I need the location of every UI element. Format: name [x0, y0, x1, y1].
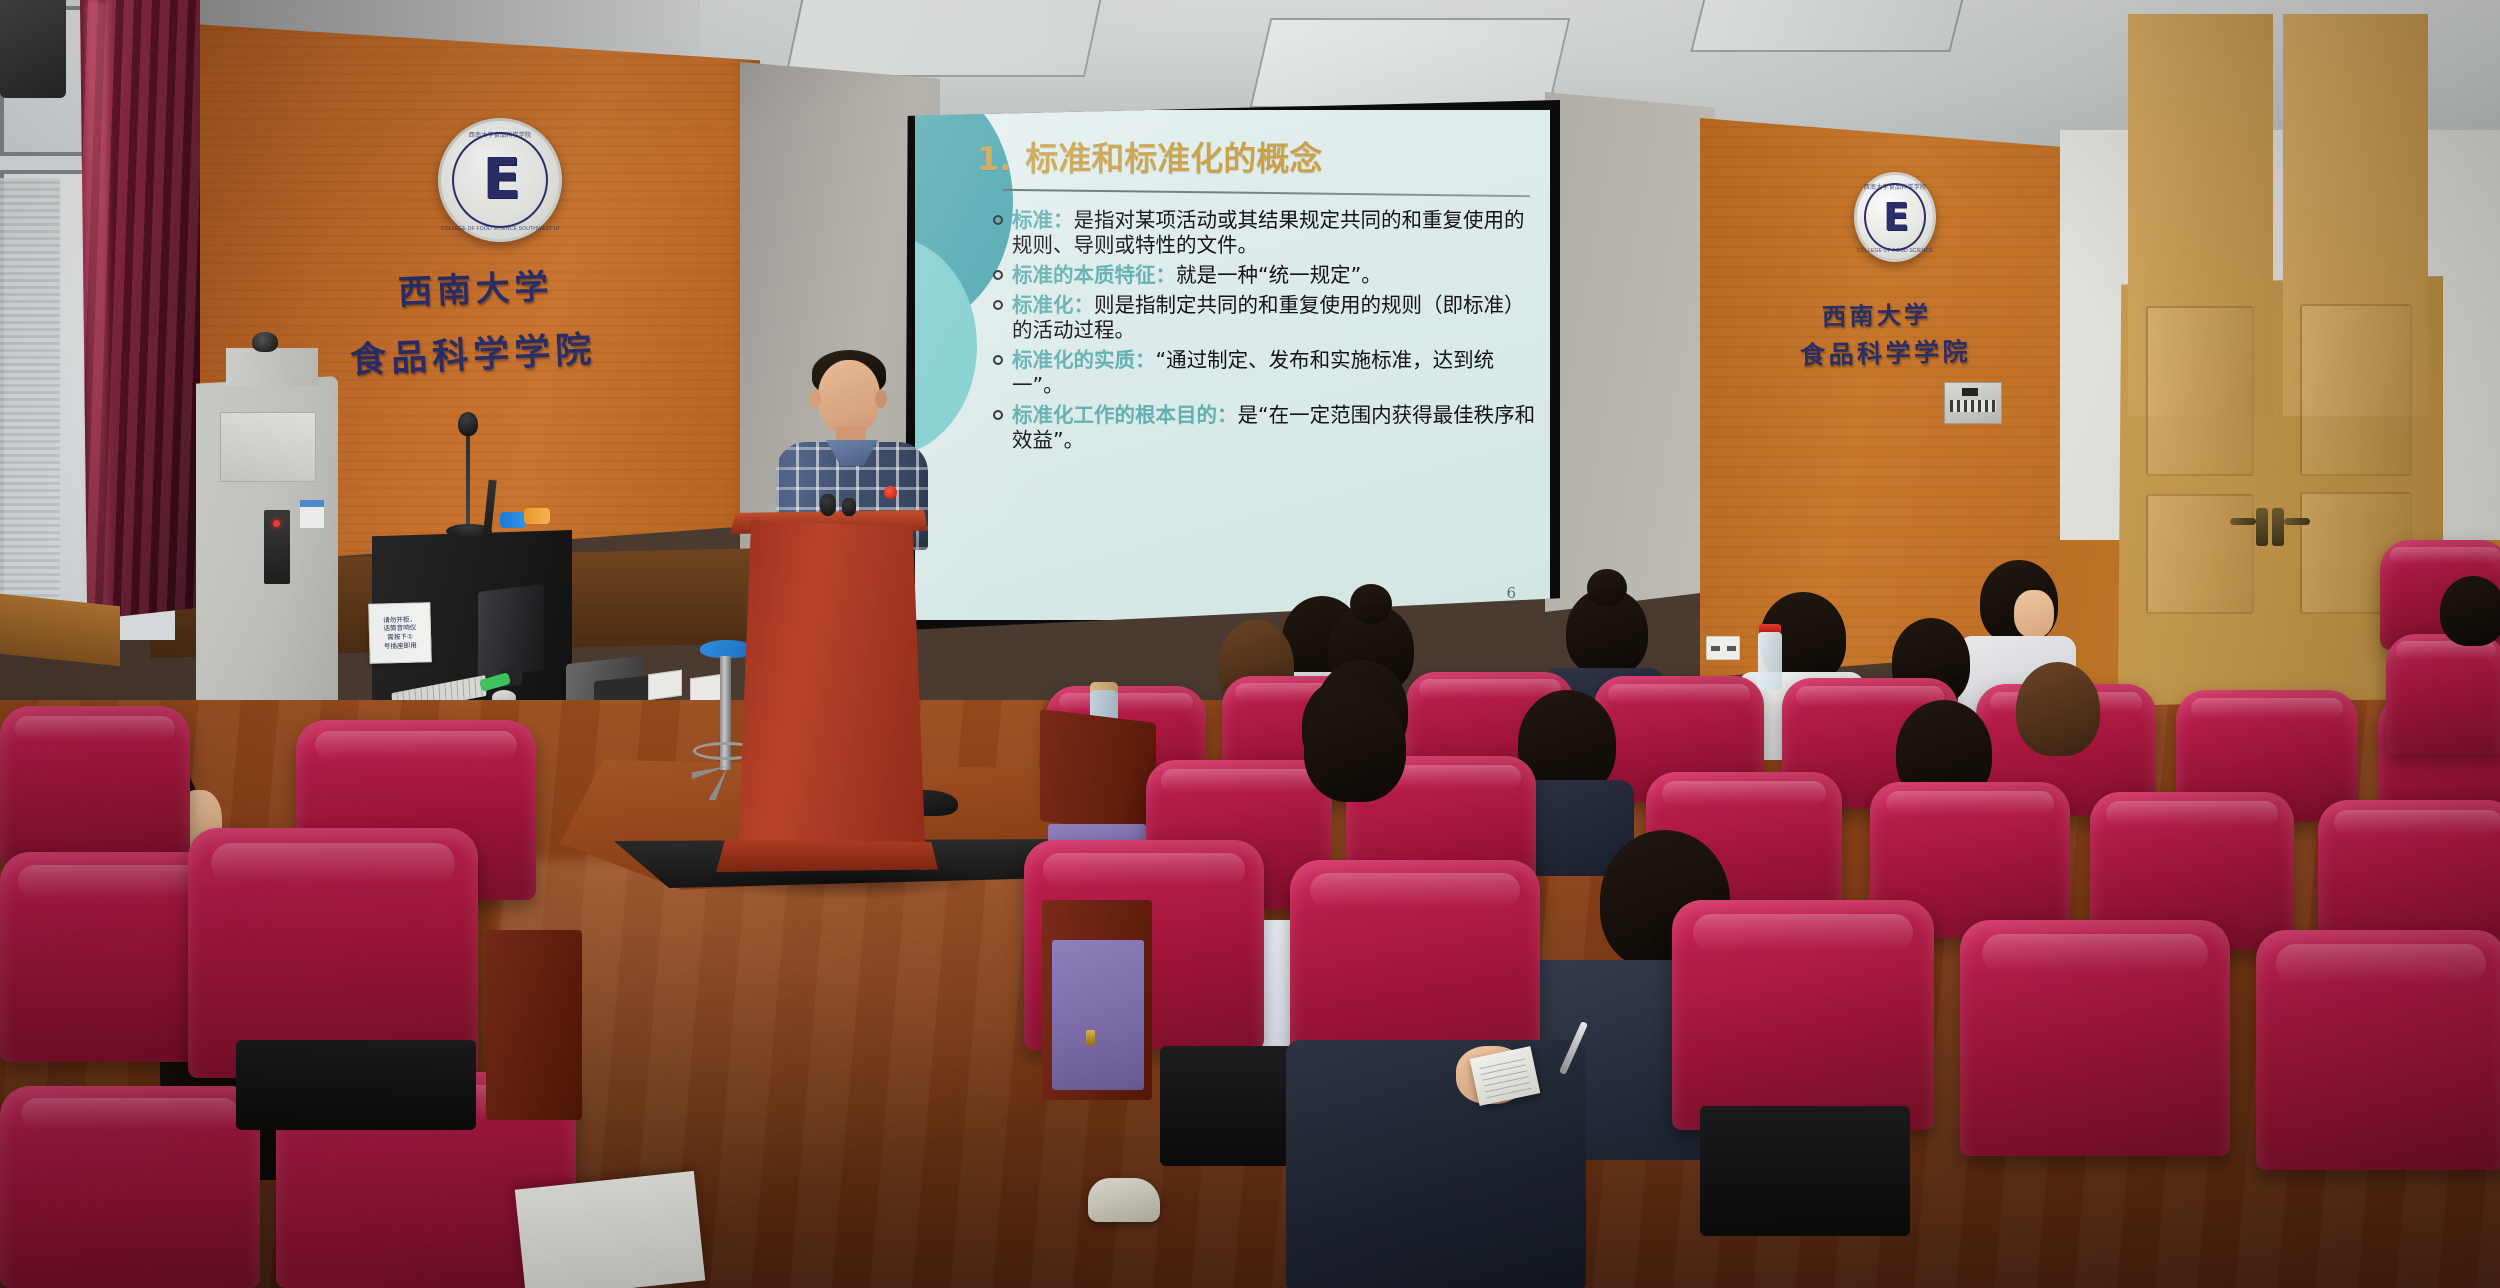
- bullet-circle-icon: [993, 215, 1003, 225]
- slide-title-row: 1. 标准和标准化的概念: [977, 132, 1536, 180]
- air-conditioner-top-box: [226, 348, 318, 386]
- water-bottle: [1758, 632, 1782, 690]
- slide-surface: 1. 标准和标准化的概念 标准：是指对某项活动或其结果规定共同的和重复使用的规则…: [915, 110, 1550, 620]
- outlet-slot: [1711, 646, 1720, 651]
- wall-power-outlet[interactable]: [1706, 636, 1740, 660]
- audience-head: [2440, 576, 2500, 646]
- presenter-head: [818, 360, 880, 434]
- audience-head: [2016, 662, 2100, 756]
- presenter-ear: [875, 390, 887, 408]
- slide-bullet-list: 标准：是指对某项活动或其结果规定共同的和重复使用的规则、导则或特性的文件。 标准…: [977, 208, 1536, 453]
- slide-bullet-item: 标准：是指对某项活动或其结果规定共同的和重复使用的规则、导则或特性的文件。: [993, 208, 1536, 258]
- window-sill: [0, 594, 120, 667]
- desktop-monitor: [478, 584, 544, 678]
- seat-wood-side: [486, 930, 582, 1120]
- bullet-text: 就是一种“统一规定”。: [1176, 263, 1382, 287]
- seat[interactable]: [1672, 900, 1934, 1130]
- wall-text-university-name: 西南大学: [397, 259, 554, 314]
- outlet-slot: [1727, 646, 1736, 651]
- av-notice-sign: 请勿开柜， 话筒音响仪 需按下① 号插座即用: [368, 602, 432, 664]
- seat[interactable]: [1960, 920, 2230, 1156]
- seat-cushion-shadow: [236, 1040, 476, 1130]
- microphone-icon: [458, 412, 478, 436]
- seat[interactable]: [2256, 930, 2500, 1170]
- ceiling-access-panel: [1250, 18, 1571, 108]
- door-panel: [2300, 304, 2412, 476]
- university-emblem-icon: 西南大学食品科学学院 COLLEGE OF FOOD SCIENCE SOUTH…: [1854, 172, 1936, 262]
- emblem-arc-top-text: 西南大学食品科学学院: [441, 130, 559, 139]
- podium-base: [716, 840, 938, 872]
- wall-text-college-name: 食品科学学院: [349, 320, 597, 383]
- slide-bullet-item: 标准化的实质：“通过制定、发布和实施标准，达到统一”。: [993, 348, 1536, 398]
- bullet-term: 标准：: [1012, 208, 1074, 232]
- shoe: [1088, 1178, 1160, 1222]
- podium-microphone-icon: [820, 494, 836, 516]
- projection-screen: 1. 标准和标准化的概念 标准：是指对某项活动或其结果规定共同的和重复使用的规则…: [905, 100, 1560, 630]
- emblem-text-ring: 西南大学食品科学学院 COLLEGE OF FOOD SCIENCE SOUTH…: [441, 121, 559, 239]
- ceiling-access-panel: [785, 0, 1105, 77]
- bullet-circle-icon: [993, 355, 1003, 365]
- slide-content: 1. 标准和标准化的概念 标准：是指对某项活动或其结果规定共同的和重复使用的规则…: [977, 132, 1536, 610]
- power-indicator-icon: [273, 520, 280, 527]
- door-panel: [2146, 494, 2254, 614]
- ceiling-access-panel: [1690, 0, 1969, 52]
- emblem-arc-top-text: 西南大学食品科学学院: [1857, 182, 1933, 191]
- microphone-stand: [466, 422, 470, 530]
- wall-speaker: [0, 0, 66, 98]
- appliance-label: [300, 500, 324, 528]
- door-handle-right[interactable]: [2272, 508, 2284, 546]
- slide-bullet-item: 标准的本质特征：就是一种“统一规定”。: [993, 263, 1536, 288]
- wall-socket[interactable]: [648, 670, 682, 701]
- slide-title-number: 1.: [977, 140, 1011, 178]
- notice-line: 号插座即用: [372, 641, 428, 651]
- bullet-circle-icon: [993, 410, 1003, 420]
- university-emblem-icon: 西南大学食品科学学院 COLLEGE OF FOOD SCIENCE SOUTH…: [438, 118, 562, 242]
- seat-cushion-shadow: [1700, 1106, 1910, 1236]
- control-panel-switches[interactable]: [1950, 400, 1996, 412]
- door-lever-left[interactable]: [2230, 518, 2256, 525]
- door-handle-left[interactable]: [2256, 508, 2268, 546]
- audience-face: [2014, 590, 2054, 638]
- podium-microphone-icon: [842, 498, 856, 516]
- window-blind: [0, 178, 60, 608]
- slide-title-text: 标准和标准化的概念: [1025, 132, 1322, 180]
- control-panel-display: [1962, 388, 1978, 396]
- orange-object: [524, 508, 550, 524]
- slide-page-number: 6: [1506, 584, 1516, 602]
- notebook-lines: [1479, 1054, 1531, 1099]
- door-panel: [2146, 306, 2254, 476]
- audience-head: [1304, 690, 1406, 802]
- audience-head: [1566, 588, 1648, 676]
- seat-latch-icon: [1086, 1030, 1095, 1046]
- document-paper: [515, 1171, 706, 1288]
- seat[interactable]: [0, 1086, 260, 1288]
- bullet-term: 标准化：: [1012, 293, 1094, 317]
- curtain-highlight: [86, 0, 108, 610]
- bullet-term: 标准的本质特征：: [1012, 263, 1176, 287]
- door-lever-right[interactable]: [2284, 518, 2310, 525]
- seat[interactable]: [2386, 634, 2500, 754]
- lectern-podium: [736, 520, 926, 870]
- right-gray-wall: [1545, 92, 1715, 612]
- lecture-hall-scene: 西南大学食品科学学院 COLLEGE OF FOOD SCIENCE SOUTH…: [0, 0, 2500, 1288]
- blue-object: [500, 512, 526, 528]
- emblem-arc-bottom-text: COLLEGE OF FOOD SCIENCE SOUTHWEST UNIVER…: [441, 226, 559, 232]
- slide-bullet-item: 标准化：则是指制定共同的和重复使用的规则（即标准）的活动过程。: [993, 293, 1536, 343]
- slide-title-divider: [1003, 189, 1530, 197]
- audience-body: [1286, 1040, 1586, 1288]
- wall-text-college-name: 食品科学学院: [1800, 332, 1972, 372]
- bullet-circle-icon: [993, 270, 1003, 280]
- lapel-badge-icon: [884, 486, 897, 499]
- slide-bullet-item: 标准化工作的根本目的：是“在一定范围内获得最佳秩序和效益”。: [993, 403, 1536, 453]
- writing-ledge: [1040, 709, 1156, 835]
- emblem-text-ring: 西南大学食品科学学院 COLLEGE OF FOOD SCIENCE SOUTH…: [1857, 175, 1933, 259]
- camera-icon: [252, 332, 278, 352]
- air-conditioner-vent: [220, 412, 316, 482]
- emblem-arc-bottom-text: COLLEGE OF FOOD SCIENCE SOUTHWEST UNIVER…: [1857, 248, 1933, 254]
- wall-text-university-name: 西南大学: [1822, 295, 1932, 332]
- bullet-text: 是指对某项活动或其结果规定共同的和重复使用的规则、导则或特性的文件。: [1012, 208, 1525, 257]
- presenter-ear: [809, 390, 821, 408]
- seat[interactable]: [0, 852, 220, 1062]
- bullet-circle-icon: [993, 300, 1003, 310]
- bullet-term: 标准化工作的根本目的：: [1012, 403, 1238, 427]
- seat-side-panel: [1052, 940, 1144, 1090]
- seat[interactable]: [0, 706, 190, 866]
- bullet-term: 标准化的实质：: [1012, 348, 1156, 372]
